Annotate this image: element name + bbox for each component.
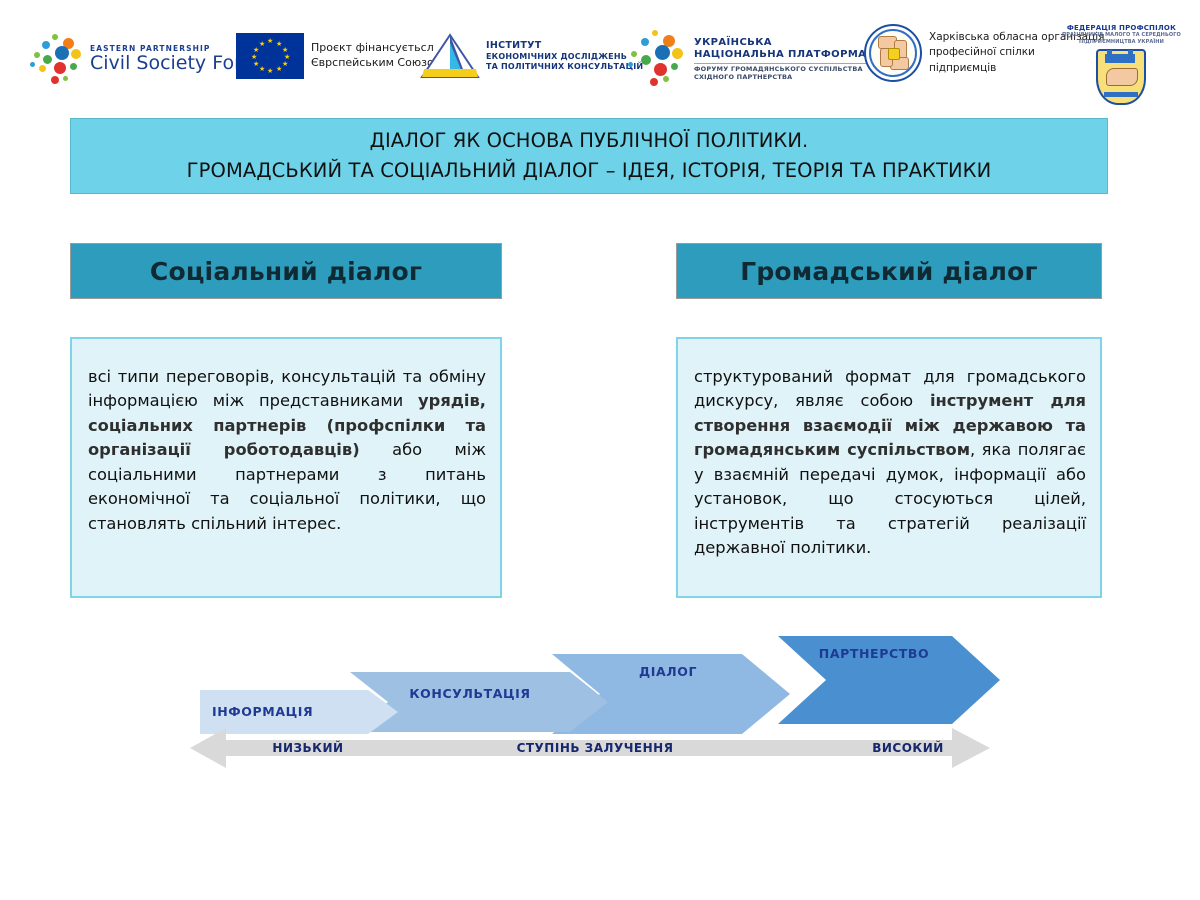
scale-label-low: НИЗЬКИЙ bbox=[272, 740, 343, 755]
scale-label-middle: СТУПІНЬ ЗАЛУЧЕННЯ bbox=[517, 741, 674, 755]
chevron-label-partnership: ПАРТНЕРСТВО bbox=[819, 646, 929, 661]
social-dialogue-heading-box: Соціальний діалог bbox=[70, 243, 502, 299]
ier-triangle-icon bbox=[420, 33, 480, 79]
federation-line-1: ФЕДЕРАЦІЯ ПРОФСПІЛОК bbox=[1062, 24, 1181, 32]
partner-logo-strip: EASTERN PARTNERSHIP Civil Society Forum … bbox=[0, 0, 1200, 112]
slide-title-line-2: ГРОМАДСЬКИЙ ТА СОЦІАЛЬНИЙ ДІАЛОГ – ІДЕЯ,… bbox=[187, 156, 992, 186]
ier-line-3: ТА ПОЛІТИЧНИХ КОНСУЛЬТАЦІЙ bbox=[486, 62, 643, 72]
ier-line-2: ЕКОНОМІЧНИХ ДОСЛІДЖЕНЬ bbox=[486, 52, 643, 62]
chevron-label-information: ІНФОРМАЦІЯ bbox=[212, 704, 313, 719]
social-dialogue-paragraph: всі типи переговорів, консультацій та об… bbox=[88, 365, 486, 536]
logo-ukrainian-national-platform: УКРАЇНСЬКА НАЦІОНАЛЬНА ПЛАТФОРМА ФОРУМУ … bbox=[628, 30, 866, 88]
civic-dialogue-heading: Громадський діалог bbox=[740, 257, 1038, 286]
csf-dot-star-icon bbox=[30, 32, 86, 86]
civic-dialogue-heading-box: Громадський діалог bbox=[676, 243, 1102, 299]
civic-dialogue-paragraph: структурований формат для громадського д… bbox=[694, 365, 1086, 561]
federation-line-2: ПРАЦІВНИКІВ МАЛОГО ТА СЕРЕДНЬОГО bbox=[1062, 32, 1181, 39]
chevron-label-dialogue: ДІАЛОГ bbox=[639, 664, 697, 679]
ier-line-1: ІНСТИТУТ bbox=[486, 40, 643, 52]
chevron-label-consultation: КОНСУЛЬТАЦІЯ bbox=[409, 686, 530, 701]
logo-european-union: ★ ★ ★ ★ ★ ★ ★ ★ ★ ★ ★ ★ Проєкт фінансуєт… bbox=[236, 33, 442, 79]
scale-label-high: ВИСОКИЙ bbox=[872, 740, 944, 755]
unp-sub-2: СХІДНОГО ПАРТНЕРСТВА bbox=[694, 74, 866, 82]
logo-institute-economic-research: ІНСТИТУТ ЕКОНОМІЧНИХ ДОСЛІДЖЕНЬ ТА ПОЛІТ… bbox=[420, 33, 643, 79]
kharkiv-emblem-icon bbox=[864, 24, 922, 82]
federation-shield-icon bbox=[1096, 49, 1146, 105]
slide-title-line-1: ДІАЛОГ ЯК ОСНОВА ПУБЛІЧНОЇ ПОЛІТИКИ. bbox=[187, 126, 992, 156]
unp-line-2: НАЦІОНАЛЬНА ПЛАТФОРМА bbox=[694, 49, 866, 61]
federation-line-3: ПІДПРИЄМНИЦТВА УКРАЇНИ bbox=[1062, 39, 1181, 46]
logo-federation-trade-unions: ФЕДЕРАЦІЯ ПРОФСПІЛОК ПРАЦІВНИКІВ МАЛОГО … bbox=[1062, 24, 1181, 105]
unp-line-1: УКРАЇНСЬКА bbox=[694, 37, 866, 49]
chevron-consultation bbox=[350, 672, 608, 732]
ladder-svg: ІНФОРМАЦІЯ КОНСУЛЬТАЦІЯ ДІАЛОГ ПАРТНЕРСТ… bbox=[190, 628, 1000, 808]
social-dialogue-text-box: всі типи переговорів, консультацій та об… bbox=[70, 337, 502, 598]
slide-title-banner: ДІАЛОГ ЯК ОСНОВА ПУБЛІЧНОЇ ПОЛІТИКИ. ГРО… bbox=[70, 118, 1108, 194]
unp-dot-star-icon bbox=[628, 30, 688, 88]
participation-ladder-diagram: ІНФОРМАЦІЯ КОНСУЛЬТАЦІЯ ДІАЛОГ ПАРТНЕРСТ… bbox=[190, 628, 1000, 808]
eu-flag-icon: ★ ★ ★ ★ ★ ★ ★ ★ ★ ★ ★ ★ bbox=[236, 33, 304, 79]
civic-dialogue-text-box: структурований формат для громадського д… bbox=[676, 337, 1102, 598]
social-dialogue-heading: Соціальний діалог bbox=[150, 257, 422, 286]
unp-divider bbox=[694, 63, 866, 64]
